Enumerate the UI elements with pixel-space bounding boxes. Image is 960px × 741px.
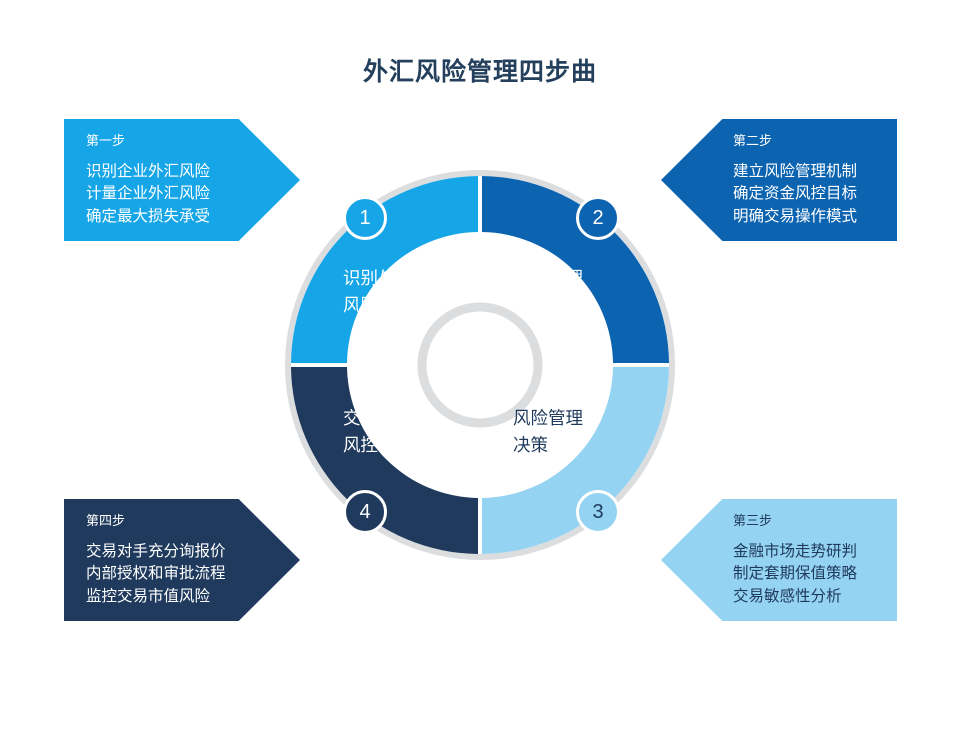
callout-step-1-line-2: 计量企业外汇风险 [86, 183, 300, 205]
callout-step-2-line-1: 建立风险管理机制 [733, 161, 897, 183]
donut-label-4-line2: 风控 [343, 432, 493, 459]
step-badge-4[interactable]: 4 [343, 490, 387, 534]
callout-step-4-line-1: 交易对手充分询报价 [86, 541, 300, 563]
callout-step-4-body: 交易对手充分询报价 内部授权和审批流程 监控交易市值风险 [64, 527, 300, 608]
donut-chart: 识别与计量 风险 风险管理 体系 风险管理 决策 交易管理与 风控 1 2 3 … [285, 170, 675, 560]
callout-step-1[interactable]: 第一步 识别企业外汇风险 计量企业外汇风险 确定最大损失承受 [64, 119, 300, 241]
donut-label-1-line2: 风险 [343, 292, 493, 319]
donut-label-2-line1: 风险管理 [513, 265, 663, 292]
callout-step-3-body: 金融市场走势研判 制定套期保值策略 交易敏感性分析 [661, 527, 897, 608]
callout-step-1-body: 识别企业外汇风险 计量企业外汇风险 确定最大损失承受 [64, 147, 300, 228]
donut-label-4: 交易管理与 风控 [343, 405, 493, 459]
callout-step-3-line-1: 金融市场走势研判 [733, 541, 897, 563]
callout-step-3[interactable]: 第三步 金融市场走势研判 制定套期保值策略 交易敏感性分析 [661, 499, 897, 621]
donut-label-2-line2: 体系 [513, 292, 663, 319]
callout-step-2-line-2: 确定资金风控目标 [733, 183, 897, 205]
donut-label-1-line1: 识别与计量 [343, 265, 493, 292]
callout-step-1-heading: 第一步 [64, 119, 300, 147]
donut-label-4-line1: 交易管理与 [343, 405, 493, 432]
callout-step-1-line-3: 确定最大损失承受 [86, 206, 300, 228]
callout-step-3-line-2: 制定套期保值策略 [733, 563, 897, 585]
donut-label-1: 识别与计量 风险 [343, 265, 493, 319]
callout-step-3-heading: 第三步 [661, 499, 897, 527]
callout-step-1-line-1: 识别企业外汇风险 [86, 161, 300, 183]
callout-step-3-line-3: 交易敏感性分析 [733, 586, 897, 608]
step-badge-1[interactable]: 1 [343, 196, 387, 240]
callout-step-4-line-2: 内部授权和审批流程 [86, 563, 300, 585]
callout-step-4-line-3: 监控交易市值风险 [86, 586, 300, 608]
page-title: 外汇风险管理四步曲 [0, 52, 960, 88]
step-badge-3[interactable]: 3 [576, 490, 620, 534]
callout-step-2[interactable]: 第二步 建立风险管理机制 确定资金风控目标 明确交易操作模式 [661, 119, 897, 241]
callout-step-4-heading: 第四步 [64, 499, 300, 527]
donut-label-2: 风险管理 体系 [513, 265, 663, 319]
step-badge-2[interactable]: 2 [576, 196, 620, 240]
donut-label-3-line1: 风险管理 [513, 405, 663, 432]
callout-step-2-heading: 第二步 [661, 119, 897, 147]
donut-label-3: 风险管理 决策 [513, 405, 663, 459]
callout-step-2-line-3: 明确交易操作模式 [733, 206, 897, 228]
callout-step-2-body: 建立风险管理机制 确定资金风控目标 明确交易操作模式 [661, 147, 897, 228]
callout-step-4[interactable]: 第四步 交易对手充分询报价 内部授权和审批流程 监控交易市值风险 [64, 499, 300, 621]
donut-label-3-line2: 决策 [513, 432, 663, 459]
